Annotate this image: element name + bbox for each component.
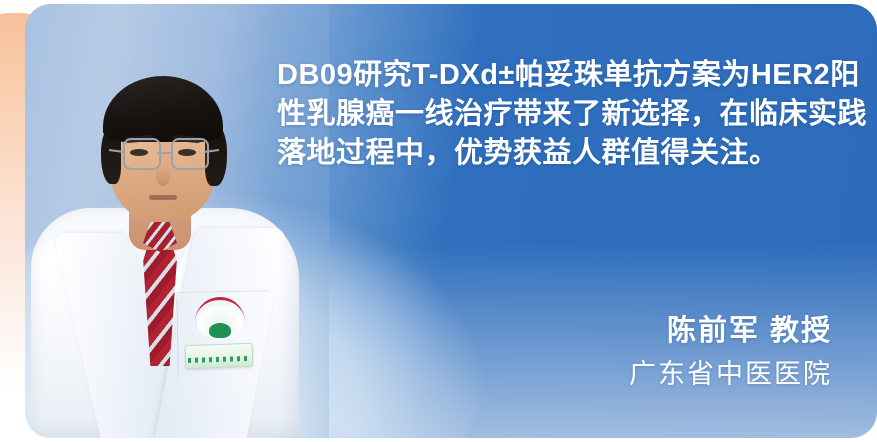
nose: [156, 166, 170, 186]
headline-quote: DB09研究T-DXd±帕妥珠单抗方案为HER2阳性乳腺癌一线治疗带来了新选择，…: [277, 56, 867, 173]
speaker-attribution: 陈前军 教授 广东省中医医院: [629, 312, 832, 392]
glasses-lens-right: [171, 138, 209, 170]
speaker-name: 陈前军 教授: [629, 312, 832, 350]
hair: [103, 76, 223, 142]
speaker-quote-card-stage: DB09研究T-DXd±帕妥珠单抗方案为HER2阳性乳腺癌一线治疗带来了新选择，…: [0, 0, 877, 442]
mouth: [149, 195, 177, 200]
speaker-card: DB09研究T-DXd±帕妥珠单抗方案为HER2阳性乳腺癌一线治疗带来了新选择，…: [25, 4, 877, 438]
speaker-organization: 广东省中医医院: [629, 356, 832, 392]
hospital-emblem-core-icon: [209, 323, 231, 338]
glasses-bridge: [157, 152, 171, 154]
